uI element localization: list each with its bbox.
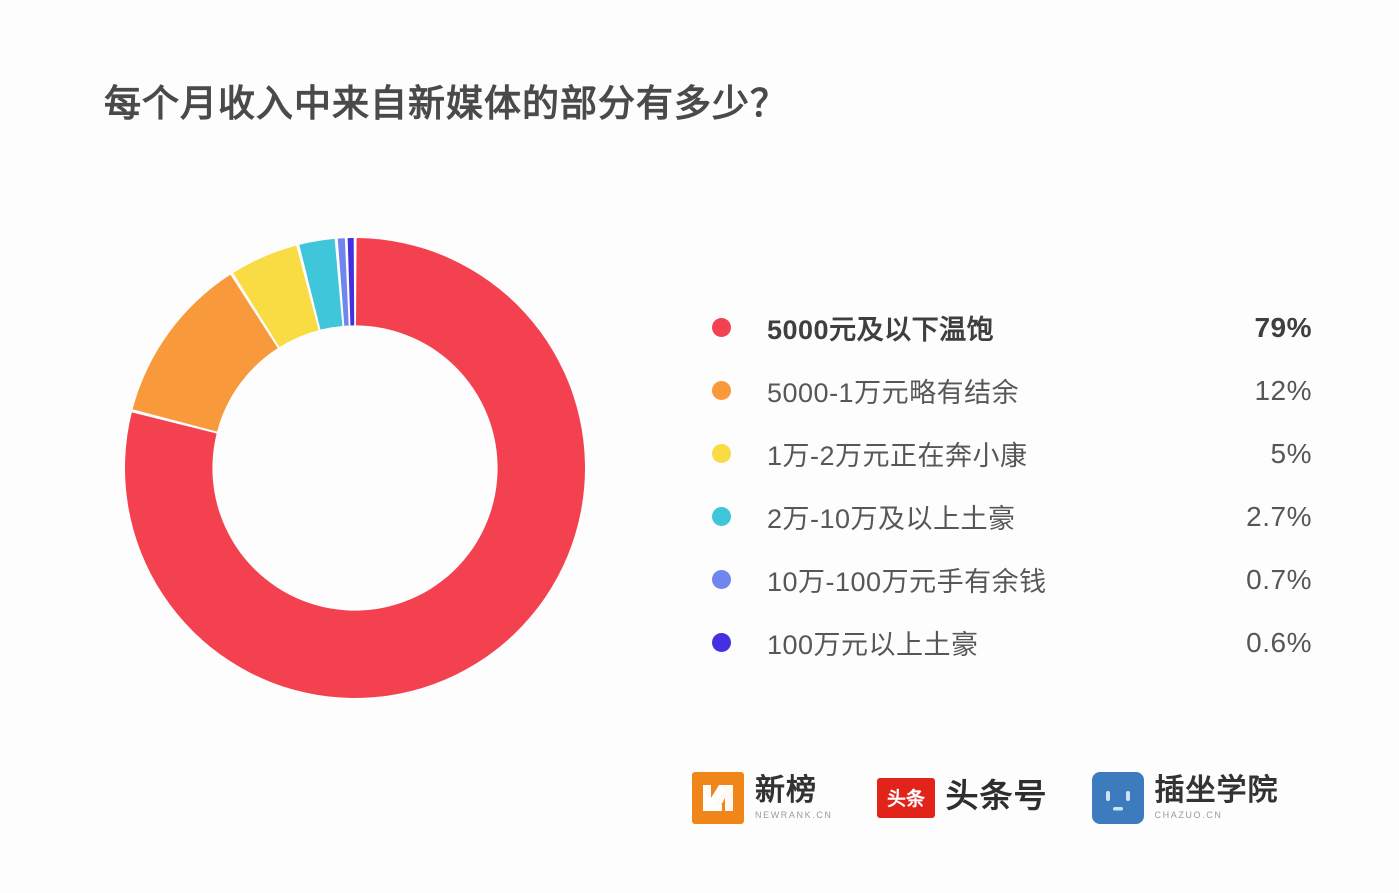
logo-name: 插坐学院 — [1155, 776, 1279, 806]
newrank-mark-icon — [692, 772, 744, 824]
donut-chart — [117, 230, 593, 706]
page-title: 每个月收入中来自新媒体的部分有多少？ — [104, 82, 788, 126]
logo-name: 头条号 — [946, 779, 1048, 812]
legend-item-label: 5000元及以下温饱 — [767, 308, 1192, 347]
legend-color-dot-icon — [712, 507, 731, 526]
legend-item-value: 0.6% — [1192, 627, 1312, 659]
legend-color-dot-icon — [712, 381, 731, 400]
legend-item-label: 100万元以上土豪 — [767, 623, 1192, 662]
legend-item[interactable]: 10万-100万元手有余钱 0.7% — [712, 548, 1312, 611]
footer-logo-bar: 新榜 NEWRANK.CN 头条 头条号 插坐学院 — [692, 772, 1279, 824]
toutiaohao-text-block: 头条号 — [946, 779, 1048, 817]
logo-name: 新榜 — [755, 776, 833, 806]
legend-item[interactable]: 5000-1万元略有结余 12% — [712, 359, 1312, 422]
legend-item-value: 2.7% — [1192, 501, 1312, 533]
legend-color-dot-icon — [712, 444, 731, 463]
legend-item-label: 5000-1万元略有结余 — [767, 371, 1192, 410]
legend-item-label: 1万-2万元正在奔小康 — [767, 434, 1192, 473]
legend-item[interactable]: 2万-10万及以上土豪 2.7% — [712, 485, 1312, 548]
legend-item-value: 5% — [1192, 438, 1312, 470]
legend-color-dot-icon — [712, 633, 731, 652]
legend-item-value: 79% — [1192, 312, 1312, 344]
legend-item-label: 2万-10万及以上土豪 — [767, 497, 1192, 536]
legend-item-label: 10万-100万元手有余钱 — [767, 560, 1192, 599]
logo-subtitle: NEWRANK.CN — [755, 811, 833, 820]
donut-slice-group — [125, 238, 585, 698]
donut-chart-svg — [117, 230, 593, 706]
toutiao-badge-icon: 头条 — [877, 778, 935, 818]
legend-item-value: 0.7% — [1192, 564, 1312, 596]
legend-item[interactable]: 1万-2万元正在奔小康 5% — [712, 422, 1312, 485]
legend-color-dot-icon — [712, 318, 731, 337]
logo-toutiaohao: 头条 头条号 — [877, 778, 1048, 818]
legend-item[interactable]: 100万元以上土豪 0.6% — [712, 611, 1312, 674]
slide-canvas: 每个月收入中来自新媒体的部分有多少？ 5000元及以下温饱 79% 5000-1… — [0, 0, 1399, 893]
newrank-text-block: 新榜 NEWRANK.CN — [755, 776, 833, 820]
chazuo-mark-icon — [1092, 772, 1144, 824]
legend-item-value: 12% — [1192, 375, 1312, 407]
logo-subtitle: CHAZUO.CN — [1155, 811, 1279, 820]
logo-chazuo: 插坐学院 CHAZUO.CN — [1092, 772, 1279, 824]
chart-legend: 5000元及以下温饱 79% 5000-1万元略有结余 12% 1万-2万元正在… — [712, 296, 1312, 674]
donut-slice[interactable] — [348, 238, 355, 325]
legend-item[interactable]: 5000元及以下温饱 79% — [712, 296, 1312, 359]
svg-text:头条: 头条 — [887, 787, 926, 810]
chazuo-text-block: 插坐学院 CHAZUO.CN — [1155, 776, 1279, 820]
legend-color-dot-icon — [712, 570, 731, 589]
logo-newrank: 新榜 NEWRANK.CN — [692, 772, 833, 824]
